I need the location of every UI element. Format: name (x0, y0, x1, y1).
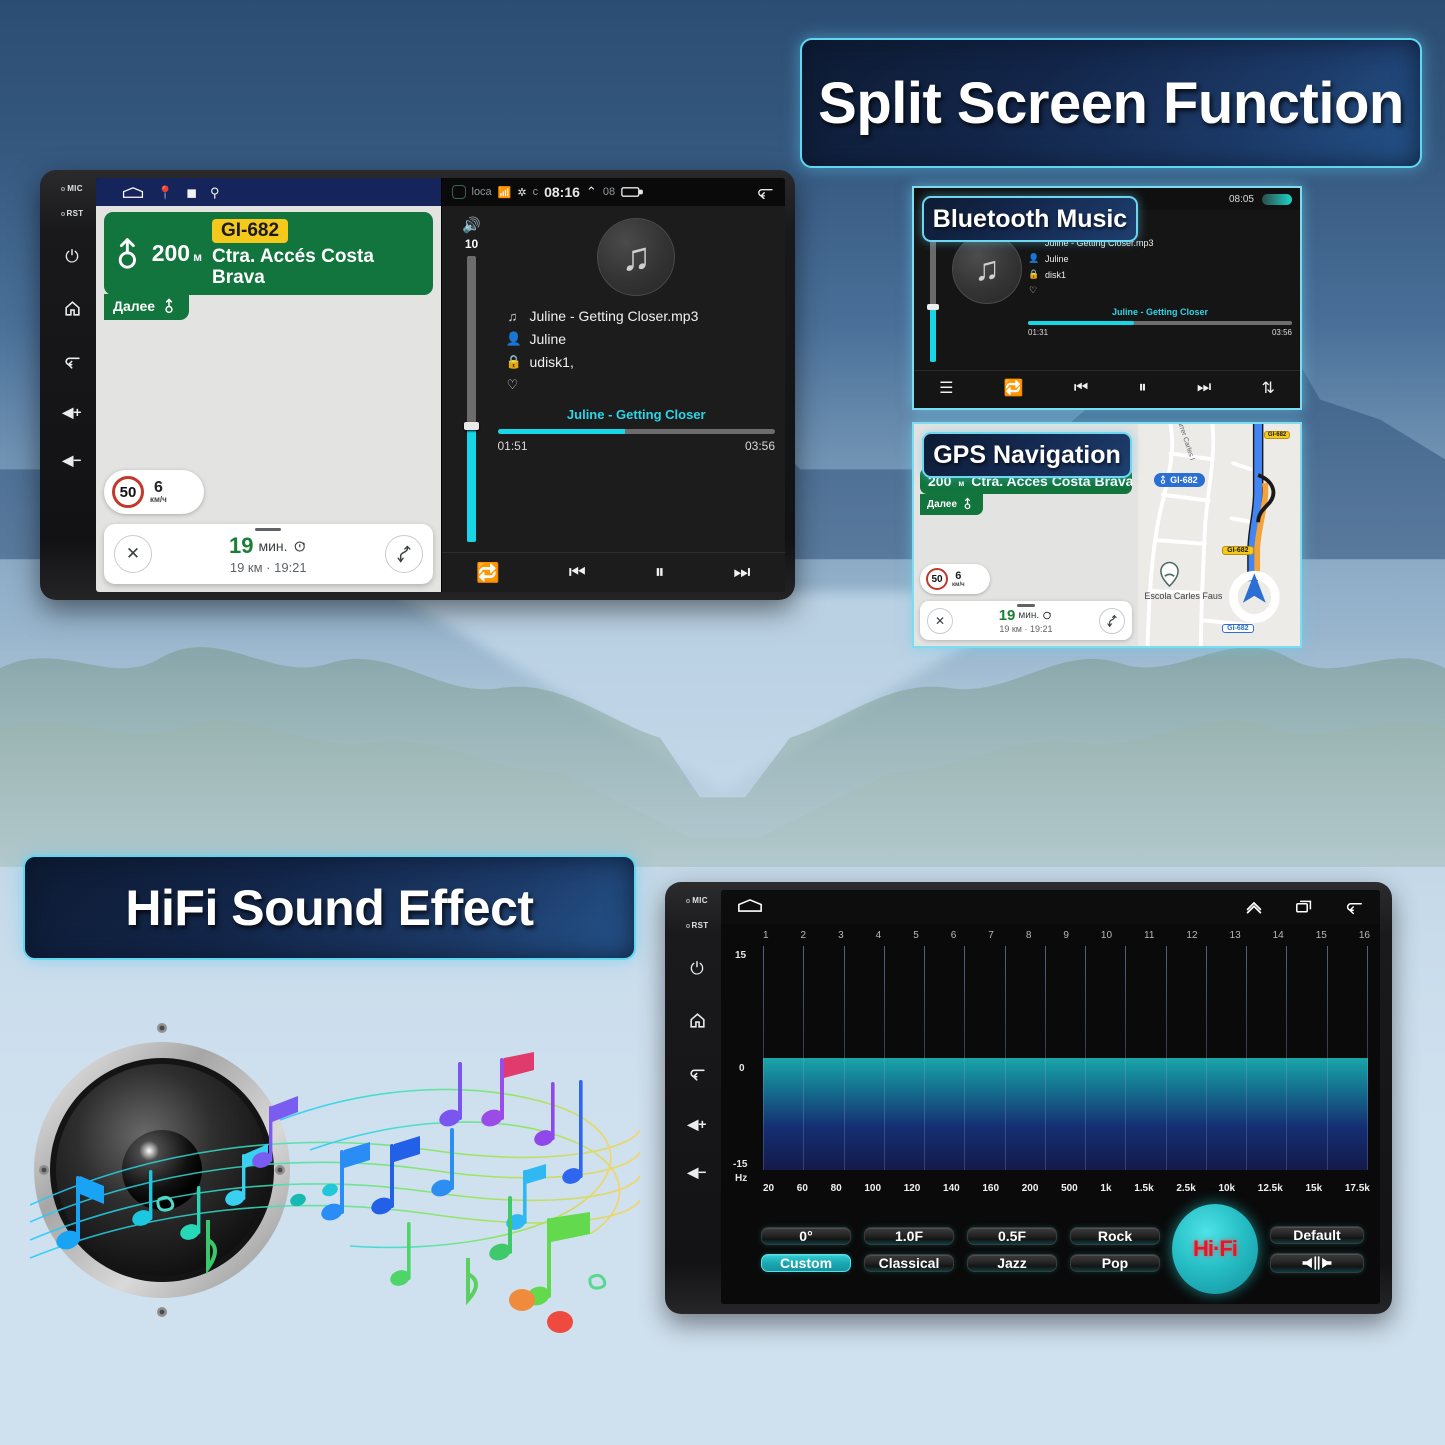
eq-preset-pop[interactable]: Pop (1070, 1254, 1160, 1272)
eq-gridline (1005, 1058, 1006, 1170)
bluetooth-volume-knob[interactable] (927, 304, 939, 310)
bluetooth-source: disk1 (1045, 270, 1066, 280)
eq-gridline (1206, 1058, 1207, 1170)
head-unit-screen: 📍 ◼ ⚲ 200 м (96, 178, 785, 592)
eq-band-number: 11 (1144, 930, 1154, 941)
back-icon[interactable] (688, 1064, 707, 1083)
reset-dot-icon (61, 212, 65, 216)
bluetooth-album-art: ♫ (952, 234, 1022, 304)
gps-speed-limit-sign: 50 (926, 568, 948, 590)
track-source-row: 🔒 udisk1, (506, 354, 699, 370)
eta-distance-arrival: 19 км · 19:21 (229, 560, 308, 575)
street-name: Ctra. Accés Costa Brava (212, 247, 423, 289)
eq-gridline (1246, 1058, 1247, 1170)
eq-gridline (924, 1058, 925, 1170)
volume-up-icon[interactable]: ◀+ (63, 405, 82, 419)
album-art-placeholder: ♫ (597, 218, 675, 296)
battery-icon (621, 186, 643, 198)
heart-icon[interactable]: ♡ (506, 377, 520, 393)
gps-drag-handle[interactable] (1017, 604, 1035, 607)
eq-frequency-label: 15k (1305, 1183, 1322, 1194)
bluetooth-volume-track[interactable] (930, 229, 936, 362)
storage-icon: 🔒 (1028, 269, 1038, 280)
volume-track[interactable] (467, 256, 476, 542)
balance-speaker-icon[interactable] (1270, 1253, 1364, 1273)
car-head-unit-equalizer: MIC RST ⏻ ◀+ ◀− 12345678910 (665, 882, 1392, 1314)
drag-handle[interactable] (255, 528, 281, 531)
bluetooth-favorite-row[interactable]: ♡ (1028, 285, 1292, 296)
progress-fill (498, 429, 626, 434)
bluetooth-volume-fill (930, 309, 936, 362)
pin-icon[interactable]: 📍 (157, 186, 173, 199)
progress-bar[interactable] (498, 429, 776, 434)
battery-icon (1262, 194, 1292, 205)
map-poi-label: Escola Carles Faus (1144, 591, 1222, 601)
reset-indicator[interactable]: RST (686, 921, 709, 930)
gps-speed-indicator: 50 6 км/ч (920, 564, 990, 594)
eq-preset-0[interactable]: 0° (761, 1227, 851, 1245)
gps-eta-sub: 19 км · 19:21 (999, 624, 1053, 634)
power-icon[interactable]: ⏻ (690, 960, 703, 977)
heart-icon[interactable]: ♡ (1028, 285, 1038, 296)
gps-current-speed-value: 6 (952, 571, 965, 582)
eq-preset-custom[interactable]: Custom (761, 1254, 851, 1272)
bluetooth-progress-times: 01:31 03:56 (1028, 328, 1292, 337)
gps-next-turn-label: Далее (927, 499, 957, 510)
mic-label: MIC (692, 896, 708, 905)
next-turn-label: Далее (113, 298, 155, 314)
eq-band-number: 1 (763, 930, 769, 941)
eq-gridline (1327, 1058, 1328, 1170)
equalizer-chart[interactable]: 12345678910111213141516 15 0 -15 Hz 2060… (721, 924, 1380, 1200)
map-shield-top: GI-682 (1264, 431, 1290, 439)
navigation-map[interactable]: 200 м GI-682 Ctra. Accés Costa Brava Дал… (96, 206, 441, 592)
mic-label: MIC (67, 184, 83, 193)
eq-gridline (884, 1058, 885, 1170)
chevron-up-icon[interactable] (1244, 899, 1264, 915)
eta-minutes-row: 19 мин. (229, 533, 308, 559)
eq-y-mid: 0 (739, 1063, 745, 1074)
current-speed-value: 6 (150, 480, 167, 496)
previous-icon[interactable]: ⏮ (1074, 379, 1088, 397)
gps-map-graphics (1138, 424, 1300, 646)
road-shield-badge: GI-682 (212, 219, 288, 243)
bluetooth-icon: ✲ (517, 186, 526, 199)
mic-indicator: MIC (61, 184, 83, 193)
progress-section[interactable]: 01:51 03:56 (498, 429, 776, 453)
eq-frequency-label: 140 (943, 1183, 960, 1194)
bluetooth-progress-fill (1028, 321, 1134, 325)
duration-time: 03:56 (745, 439, 775, 453)
gps-eta-summary: 19 мин. 19 км · 19:21 (999, 607, 1053, 634)
eq-frequency-label: 10k (1218, 1183, 1235, 1194)
eq-band-number: 10 (1101, 930, 1112, 941)
map-shield-bottom: GI-682 (1222, 624, 1253, 633)
home-icon[interactable] (63, 299, 82, 318)
eq-band-number: 7 (988, 930, 994, 941)
eq-band-number: 16 (1359, 930, 1370, 941)
eq-gridline (844, 1058, 845, 1170)
status-location-text: loca (472, 186, 492, 198)
eq-gridline (1045, 1058, 1046, 1170)
equalizer-screen: 12345678910111213141516 15 0 -15 Hz 2060… (721, 890, 1380, 1304)
volume-knob[interactable] (464, 422, 479, 430)
speed-limit-sign: 50 (112, 476, 144, 508)
music-transport-controls: 🔁 ⏮ ⏸ ⏭ (442, 552, 786, 592)
eq-gridline (1085, 1058, 1086, 1170)
eq-frequency-label: 120 (904, 1183, 921, 1194)
status-clock: 08:16 (544, 184, 580, 200)
gps-navigation-label-text: GPS Navigation (933, 441, 1121, 470)
route-alternatives-icon[interactable] (385, 535, 423, 573)
volume-down-icon[interactable]: ◀− (63, 453, 82, 467)
map-shield-mid: GI-682 (1222, 546, 1253, 555)
eq-band-number: 9 (1063, 930, 1069, 941)
eq-gridline (1125, 1058, 1126, 1170)
music-content: ♫ ♫ Juline - Getting Closer.mp3 👤 Juline (498, 216, 776, 546)
progress-times: 01:51 03:56 (498, 439, 776, 453)
eq-frequency-label: 500 (1061, 1183, 1078, 1194)
default-button[interactable]: Default (1270, 1226, 1364, 1244)
eq-gridline (1367, 1058, 1368, 1170)
current-speed: 6 км/ч (150, 480, 167, 504)
eq-lower-gridlines (763, 1058, 1368, 1170)
repeat-icon[interactable]: 🔁 (476, 561, 500, 585)
eq-frequency-label: 17.5k (1345, 1183, 1370, 1194)
playlist-icon[interactable]: ☰ (939, 378, 953, 398)
balance-speaker-glyph (1300, 1254, 1334, 1272)
track-artist: Juline (530, 331, 567, 347)
turn-distance-unit: м (193, 250, 202, 264)
reset-label: RST (67, 209, 84, 218)
cast-icon: 📶 (498, 186, 512, 199)
eq-frequency-label: 20 (763, 1183, 774, 1194)
traffic-info-icon (293, 539, 308, 554)
volume-fill (467, 428, 476, 542)
current-speed-unit: км/ч (150, 496, 167, 504)
eq-frequency-label: 200 (1022, 1183, 1039, 1194)
eq-band-number: 14 (1273, 930, 1284, 941)
roundabout-arrow-small-icon (162, 298, 176, 315)
music-note-icon: ♫ (506, 309, 520, 324)
next-icon[interactable]: ⏭ (733, 562, 750, 584)
eq-preset-jazz[interactable]: Jazz (967, 1254, 1057, 1272)
eq-gridline (1286, 1058, 1287, 1170)
eq-frequency-label: 100 (864, 1183, 881, 1194)
eq-preset-classical[interactable]: Classical (864, 1254, 954, 1272)
gps-current-speed: 6 км/ч (952, 571, 965, 588)
eq-gridline (763, 1058, 764, 1170)
back-icon[interactable] (755, 185, 775, 199)
back-icon[interactable] (1344, 899, 1364, 915)
eq-band-number: 12 (1186, 930, 1197, 941)
eq-band-number: 4 (876, 930, 882, 941)
eq-gridline (1166, 1058, 1167, 1170)
head-unit-side-rail: MIC RST ⏻ ◀+ ◀− (48, 178, 96, 592)
eq-y-max: 15 (735, 950, 746, 961)
hifi-title-text: HiFi Sound Effect (125, 879, 533, 937)
elapsed-time: 01:51 (498, 439, 528, 453)
gps-distance-unit: м (958, 479, 964, 488)
square-icon[interactable]: ◼ (186, 186, 197, 199)
music-player-pane: loca 📶 ✲ c 08:16 ⌃ 08 🔊 10 (441, 178, 786, 592)
chevron-up-icon[interactable]: ⌃ (586, 184, 597, 200)
split-screen-title-text: Split Screen Function (818, 70, 1404, 137)
bluetooth-elapsed: 01:31 (1028, 328, 1048, 337)
bluetooth-artist: Juline (1045, 254, 1069, 264)
eq-band-number: 3 (838, 930, 844, 941)
eq-preset-grid: 0°1.0F0.5FRockCustomClassicalJazzPop (761, 1227, 1160, 1272)
gps-map-view[interactable]: Escola Carles Faus Carrer Carles I GI-68… (1138, 424, 1300, 646)
gps-current-speed-unit: км/ч (952, 582, 965, 588)
eta-card[interactable]: ✕ 19 мин. 19 км · 19:21 (104, 524, 433, 584)
home-outline-icon[interactable] (737, 898, 763, 913)
speaker-music-illustration (30, 1000, 640, 1340)
track-metadata: ♫ Juline - Getting Closer.mp3 👤 Juline 🔒… (506, 308, 699, 393)
status-location-text2: c (533, 186, 539, 198)
person-icon: 👤 (1028, 253, 1038, 264)
storage-icon: 🔒 (506, 354, 520, 370)
eq-band-numbers: 12345678910111213141516 (763, 930, 1370, 941)
hifi-badge[interactable]: Hi·Fi (1172, 1204, 1258, 1294)
now-playing-title: Juline - Getting Closer (567, 407, 706, 422)
app-square-icon (452, 185, 466, 199)
eq-side-buttons: Default (1270, 1226, 1364, 1273)
person-icon: 👤 (506, 331, 520, 347)
music-player-main: 🔊 10 ♫ ♫ Juline - Getting Closer.mp3 (442, 206, 786, 546)
eq-frequency-label: 2.5k (1176, 1183, 1195, 1194)
volume-icon: 🔊 (462, 216, 481, 234)
eq-frequency-label: 160 (982, 1183, 999, 1194)
roundabout-arrow-icon (113, 237, 142, 271)
next-icon[interactable]: ⏭ (1197, 379, 1211, 397)
eq-y-min: -15 (733, 1159, 747, 1170)
eq-spectrum-area (763, 1058, 1368, 1170)
roundabout-arrow-small-icon (962, 497, 973, 511)
track-file-row: ♫ Juline - Getting Closer.mp3 (506, 308, 699, 324)
eq-band-number: 2 (801, 930, 807, 941)
eq-frequency-label: 1k (1100, 1183, 1111, 1194)
eq-frequency-labels: 2060801001201401602005001k1.5k2.5k10k12.… (763, 1183, 1370, 1194)
eq-frequency-label: 60 (797, 1183, 808, 1194)
track-artist-row: 👤 Juline (506, 331, 699, 347)
eq-preset-rock[interactable]: Rock (1070, 1227, 1160, 1245)
pause-icon[interactable]: ⏸ (1139, 379, 1147, 397)
bluetooth-duration: 03:56 (1272, 328, 1292, 337)
eq-plot-area[interactable] (763, 946, 1368, 1170)
gps-navigation-label: GPS Navigation (922, 432, 1132, 478)
bluetooth-now-playing: Juline - Getting Closer (1028, 307, 1292, 317)
traffic-info-icon (1042, 610, 1053, 621)
mic-dot-icon (61, 187, 65, 191)
eq-band-number: 15 (1316, 930, 1327, 941)
eq-frequency-label: 80 (831, 1183, 842, 1194)
route-alternatives-icon[interactable] (1099, 608, 1125, 634)
previous-icon[interactable]: ⏮ (569, 562, 586, 584)
eq-frequency-label: 12.5k (1258, 1183, 1283, 1194)
eq-preset-0-5f[interactable]: 0.5F (967, 1227, 1057, 1245)
marker-icon[interactable]: ⚲ (210, 186, 220, 199)
gps-next-turn: Далее (920, 494, 983, 515)
close-icon[interactable]: ✕ (114, 535, 152, 573)
roundabout-arrow-small-icon (1159, 475, 1167, 485)
reset-label: RST (692, 921, 709, 930)
navigation-pane: 📍 ◼ ⚲ 200 м (96, 178, 441, 592)
split-screen-title-banner: Split Screen Function (800, 38, 1422, 168)
bluetooth-music-panel: 08:05 10 ♫ Juline - Getting Closer.mp3 👤… (912, 186, 1302, 410)
eq-band-number: 8 (1026, 930, 1032, 941)
turn-instruction-card: 200 м GI-682 Ctra. Accés Costa Brava (104, 212, 433, 295)
eq-band-number: 5 (913, 930, 919, 941)
reset-indicator[interactable]: RST (61, 209, 84, 218)
music-status-bar: loca 📶 ✲ c 08:16 ⌃ 08 (442, 178, 786, 206)
track-source: udisk1, (530, 354, 574, 370)
battery-text: 08 (603, 186, 615, 198)
mic-dot-icon (686, 899, 690, 903)
eq-side-rail: MIC RST ⏻ ◀+ ◀− (673, 890, 721, 1304)
eq-band-number: 6 (951, 930, 957, 941)
bluetooth-clock: 08:05 (1229, 194, 1254, 205)
eq-gridline (803, 1058, 804, 1170)
eta-summary: 19 мин. 19 км · 19:21 (229, 533, 308, 575)
favorite-row[interactable]: ♡ (506, 377, 699, 393)
gps-eta-card[interactable]: ✕ 19 мин. 19 км · 19:21 (920, 601, 1132, 640)
power-icon[interactable]: ⏻ (65, 248, 78, 265)
home-icon[interactable] (688, 1011, 707, 1030)
eq-frequency-label: 1.5k (1134, 1183, 1153, 1194)
speed-indicator: 50 6 км/ч (104, 470, 204, 514)
gps-eta-minutes: 19 (999, 607, 1016, 624)
bluetooth-progress-bar[interactable] (1028, 321, 1292, 325)
turn-distance: 200 (152, 240, 190, 267)
back-icon[interactable] (63, 352, 82, 371)
android-navbar (721, 890, 1380, 924)
bluetooth-transport-controls: ☰ 🔁 ⏮ ⏸ ⏭ ⇅ (914, 370, 1300, 404)
bluetooth-artist-row: 👤 Juline (1028, 253, 1292, 264)
gps-navigation-panel: 200 м Ctra. Accés Costa Brava Далее 50 6… (912, 422, 1302, 648)
gps-eta-row: 19 мин. (999, 607, 1053, 624)
hifi-title-banner: HiFi Sound Effect (23, 855, 636, 960)
eq-gridline (964, 1058, 965, 1170)
home-outline-icon[interactable] (122, 186, 144, 199)
close-icon[interactable]: ✕ (927, 608, 953, 634)
volume-up-icon[interactable]: ◀+ (688, 1117, 707, 1131)
reset-dot-icon (686, 924, 690, 928)
gps-eta-minutes-unit: мин. (1018, 610, 1039, 621)
equalizer-presets: 0°1.0F0.5FRockCustomClassicalJazzPop Hi·… (721, 1200, 1380, 1304)
track-file: Juline - Getting Closer.mp3 (530, 308, 699, 324)
eq-y-axis: 15 0 -15 Hz (729, 924, 761, 1200)
eta-minutes-unit: мин. (258, 538, 287, 554)
map-callout-text: GI-682 (1170, 475, 1198, 485)
bluetooth-source-row: 🔒 disk1 (1028, 269, 1292, 280)
recent-apps-icon[interactable] (1294, 899, 1314, 915)
volume-slider[interactable]: 🔊 10 (454, 216, 490, 546)
bluetooth-music-label: Bluetooth Music (922, 196, 1138, 242)
eq-x-axis-unit: Hz (735, 1173, 747, 1184)
eta-minutes: 19 (229, 533, 253, 559)
eq-preset-1-0f[interactable]: 1.0F (864, 1227, 954, 1245)
pause-icon[interactable]: ⏸ (655, 562, 665, 584)
volume-value: 10 (465, 237, 478, 251)
mic-indicator: MIC (686, 896, 708, 905)
navigation-topbar: 📍 ◼ ⚲ (96, 178, 441, 206)
car-head-unit-main: MIC RST ⏻ ◀+ ◀− 📍 ◼ ⚲ (40, 170, 795, 600)
volume-down-icon[interactable]: ◀− (688, 1165, 707, 1179)
equalizer-icon[interactable]: ⇅ (1261, 378, 1274, 398)
eq-band-number: 13 (1230, 930, 1241, 941)
bluetooth-music-label-text: Bluetooth Music (933, 205, 1127, 234)
repeat-icon[interactable]: 🔁 (1004, 378, 1024, 398)
map-route-callout: GI-682 (1154, 473, 1205, 487)
next-turn-card: Далее (104, 294, 189, 320)
